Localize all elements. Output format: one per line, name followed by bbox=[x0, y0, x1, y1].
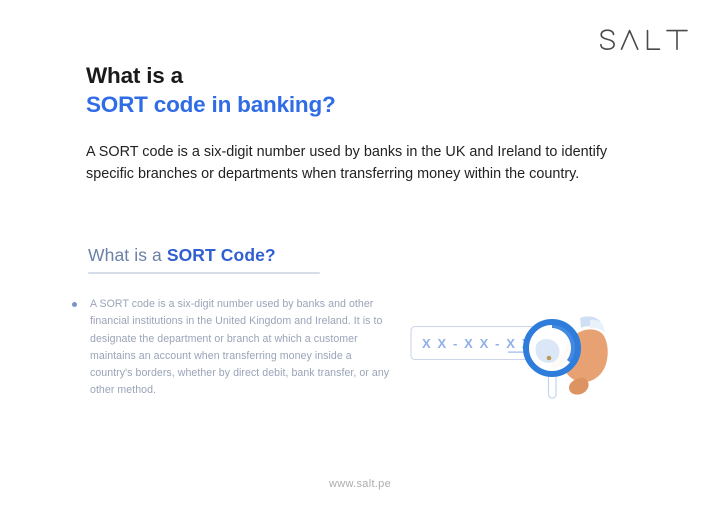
sort-code-illustration: X X - X X - X X bbox=[404, 298, 620, 410]
section-heading-prefix: What is a bbox=[88, 245, 167, 265]
illustration-svg: X X - X X - X X bbox=[404, 298, 620, 410]
magnifying-glass-icon bbox=[526, 322, 578, 374]
lead-paragraph: A SORT code is a six-digit number used b… bbox=[86, 141, 646, 185]
title-line-2: SORT code in banking? bbox=[86, 90, 646, 119]
section-heading: What is a SORT Code? bbox=[88, 245, 328, 266]
bullet-text: A SORT code is a six-digit number used b… bbox=[90, 296, 395, 400]
section-heading-strong: SORT Code? bbox=[167, 245, 276, 265]
footer-website-url: www.salt.pe bbox=[0, 478, 720, 490]
section-divider bbox=[88, 272, 320, 274]
section-heading-text: What is a SORT Code? bbox=[88, 245, 276, 265]
salt-logo bbox=[596, 26, 692, 60]
bullet-dot-icon bbox=[72, 302, 77, 307]
slide-canvas: What is a SORT code in banking? A SORT c… bbox=[0, 0, 720, 509]
title-line-1: What is a bbox=[86, 61, 646, 90]
list-item: A SORT code is a six-digit number used b… bbox=[72, 296, 402, 400]
code-underline bbox=[508, 352, 525, 353]
page-title: What is a SORT code in banking? bbox=[86, 61, 646, 119]
salt-wordmark-icon bbox=[596, 28, 692, 58]
sort-code-mask-text: X X - X X - X X bbox=[422, 336, 532, 351]
